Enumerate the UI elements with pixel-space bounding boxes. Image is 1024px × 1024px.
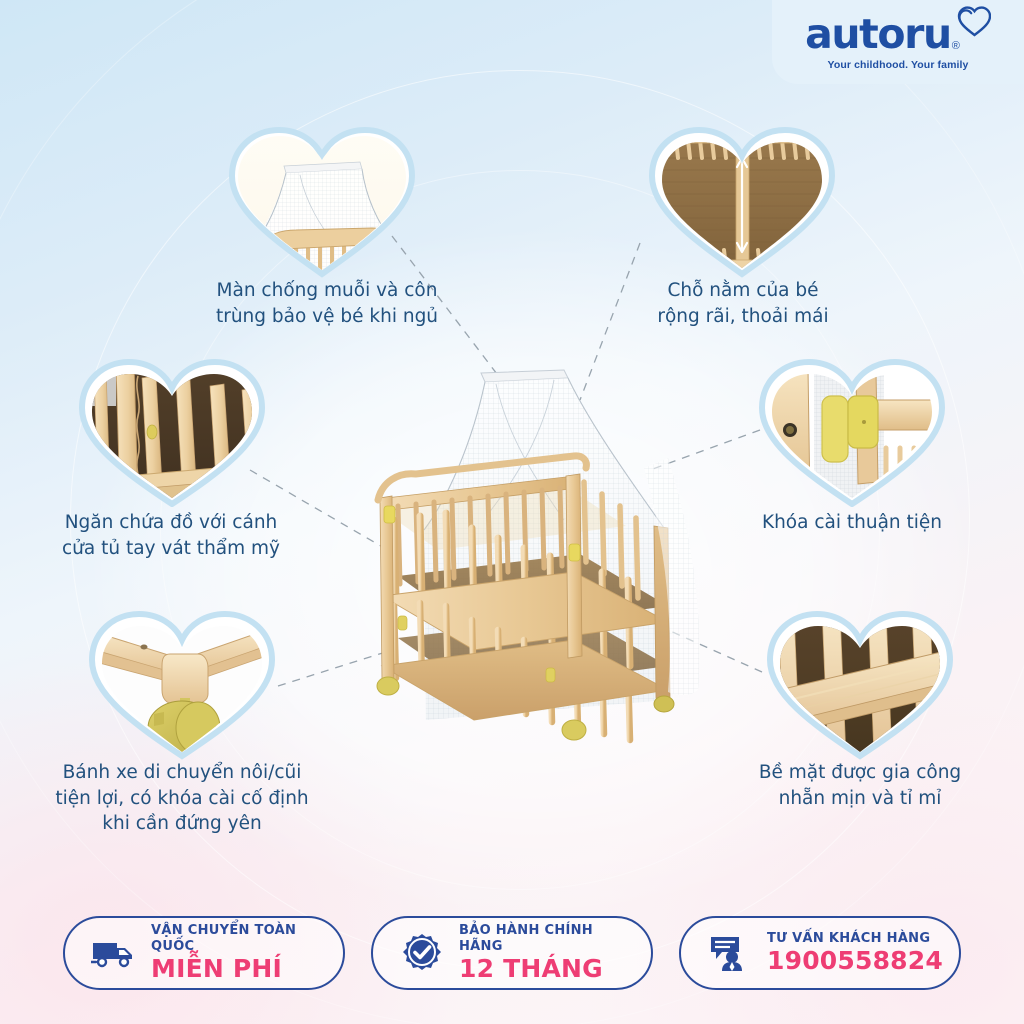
feature-bubble-bed-surface[interactable]: Chỗ nằm của bé rộng rãi, thoải mái (642, 118, 842, 278)
badge-hotline-label: TƯ VẤN KHÁCH HÀNG (767, 931, 943, 947)
feature-caption-latch-lock: Khóa cài thuận tiện (752, 510, 952, 536)
badge-shipping-label: VẬN CHUYỂN TOÀN QUỐC (151, 923, 323, 956)
feature-bubble-storage-drawer[interactable]: Ngăn chứa đồ với cánh cửa tủ tay vát thẩ… (72, 352, 272, 507)
feature-caption-caster-wheel: Bánh xe di chuyển nôi/cũi tiện lợi, có k… (40, 760, 324, 837)
feature-bubble-caster-wheel[interactable]: Bánh xe di chuyển nôi/cũi tiện lợi, có k… (82, 602, 282, 760)
feature-bubble-latch-lock[interactable]: Khóa cài thuận tiện (752, 352, 952, 507)
truck-icon (91, 937, 137, 969)
trust-badges: VẬN CHUYỂN TOÀN QUỐC MIỄN PHÍ BẢO HÀNH C… (0, 916, 1024, 990)
customer-support-icon (707, 934, 753, 972)
badge-warranty-label: BẢO HÀNH CHÍNH HÃNG (459, 923, 631, 956)
feature-bubble-smooth-finish[interactable]: Bề mặt được gia công nhẵn mịn và tỉ mỉ (760, 602, 960, 760)
badge-hotline-text: TƯ VẤN KHÁCH HÀNG 1900558824 (767, 931, 943, 975)
verified-seal-icon (399, 933, 445, 973)
badge-warranty[interactable]: BẢO HÀNH CHÍNH HÃNG 12 THÁNG (371, 916, 653, 990)
feature-bubble-mosquito-net[interactable]: Màn chống muỗi và côn trùng bảo vệ bé kh… (222, 118, 422, 278)
feature-caption-storage-drawer: Ngăn chứa đồ với cánh cửa tủ tay vát thẩ… (44, 510, 298, 561)
product-image-crib (368, 348, 708, 748)
infographic-canvas: autoru ® Your childhood. Your family (0, 0, 1024, 1024)
heart-outline-icon (957, 5, 991, 42)
badge-hotline-value: 1900558824 (767, 947, 943, 975)
badge-shipping-text: VẬN CHUYỂN TOÀN QUỐC MIỄN PHÍ (151, 923, 323, 984)
badge-hotline[interactable]: TƯ VẤN KHÁCH HÀNG 1900558824 (679, 916, 961, 990)
badge-shipping-value: MIỄN PHÍ (151, 955, 323, 983)
brand-tagline: Your childhood. Your family (828, 59, 969, 71)
feature-caption-smooth-finish: Bề mặt được gia công nhẵn mịn và tỉ mỉ (732, 760, 988, 811)
brand-name: autoru (805, 14, 951, 55)
logo-row: autoru ® (805, 14, 991, 55)
brand-logo-band: autoru ® Your childhood. Your family (772, 0, 1024, 84)
feature-caption-mosquito-net: Màn chống muỗi và côn trùng bảo vệ bé kh… (212, 278, 442, 329)
badge-warranty-value: 12 THÁNG (459, 955, 631, 983)
badge-warranty-text: BẢO HÀNH CHÍNH HÃNG 12 THÁNG (459, 923, 631, 984)
feature-caption-bed-surface: Chỗ nằm của bé rộng rãi, thoải mái (637, 278, 849, 329)
badge-shipping[interactable]: VẬN CHUYỂN TOÀN QUỐC MIỄN PHÍ (63, 916, 345, 990)
